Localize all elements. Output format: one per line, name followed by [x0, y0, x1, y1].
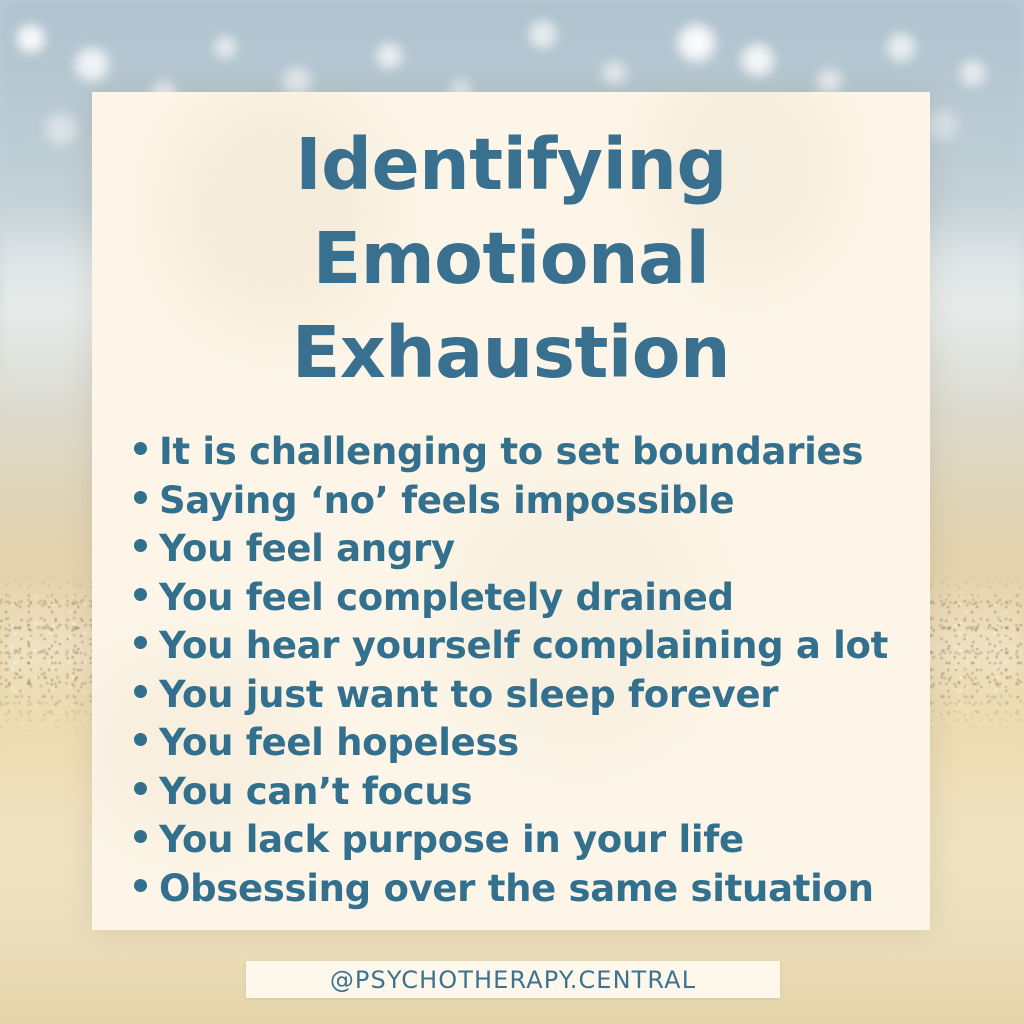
symptom-list: It is challenging to set boundaries Sayi… — [134, 428, 888, 913]
list-item-label: You lack purpose in your life — [159, 816, 744, 865]
list-item: You hear yourself complaining a lot — [134, 622, 888, 671]
list-item: You just want to sleep forever — [134, 671, 888, 720]
bullet-dot-icon — [134, 782, 147, 795]
bullet-dot-icon — [134, 636, 147, 649]
page-title: Identifying Emotional Exhaustion — [110, 118, 912, 400]
list-item: It is challenging to set boundaries — [134, 428, 888, 477]
list-item: You lack purpose in your life — [134, 816, 888, 865]
list-item-label: You hear yourself complaining a lot — [159, 622, 888, 671]
bullet-dot-icon — [134, 733, 147, 746]
list-item: Saying ‘no’ feels impossible — [134, 477, 888, 526]
list-item-label: You feel completely drained — [159, 574, 734, 623]
handle-label: @PSYCHOTHERAPY.CENTRAL — [330, 968, 696, 992]
bullet-dot-icon — [134, 442, 147, 455]
list-item-label: It is challenging to set boundaries — [159, 428, 863, 477]
bullet-dot-icon — [134, 491, 147, 504]
bullet-dot-icon — [134, 588, 147, 601]
list-item-label: You feel hopeless — [159, 719, 519, 768]
list-item-label: You just want to sleep forever — [159, 671, 778, 720]
list-item: You feel hopeless — [134, 719, 888, 768]
list-item-label: You can’t focus — [159, 768, 472, 817]
list-item: You can’t focus — [134, 768, 888, 817]
list-item-label: You feel angry — [159, 525, 455, 574]
content-card: Identifying Emotional Exhaustion It is c… — [92, 92, 930, 930]
bullet-dot-icon — [134, 685, 147, 698]
page-title-line-2: Exhaustion — [292, 311, 730, 394]
list-item-label: Saying ‘no’ feels impossible — [159, 477, 734, 526]
bullet-dot-icon — [134, 879, 147, 892]
handle-band: @PSYCHOTHERAPY.CENTRAL — [246, 961, 780, 998]
list-item: You feel angry — [134, 525, 888, 574]
list-item: You feel completely drained — [134, 574, 888, 623]
list-item-label: Obsessing over the same situation — [159, 865, 874, 914]
bullet-dot-icon — [134, 539, 147, 552]
list-item: Obsessing over the same situation — [134, 865, 888, 914]
page-title-line-1: Identifying Emotional — [295, 123, 727, 300]
bullet-dot-icon — [134, 830, 147, 843]
